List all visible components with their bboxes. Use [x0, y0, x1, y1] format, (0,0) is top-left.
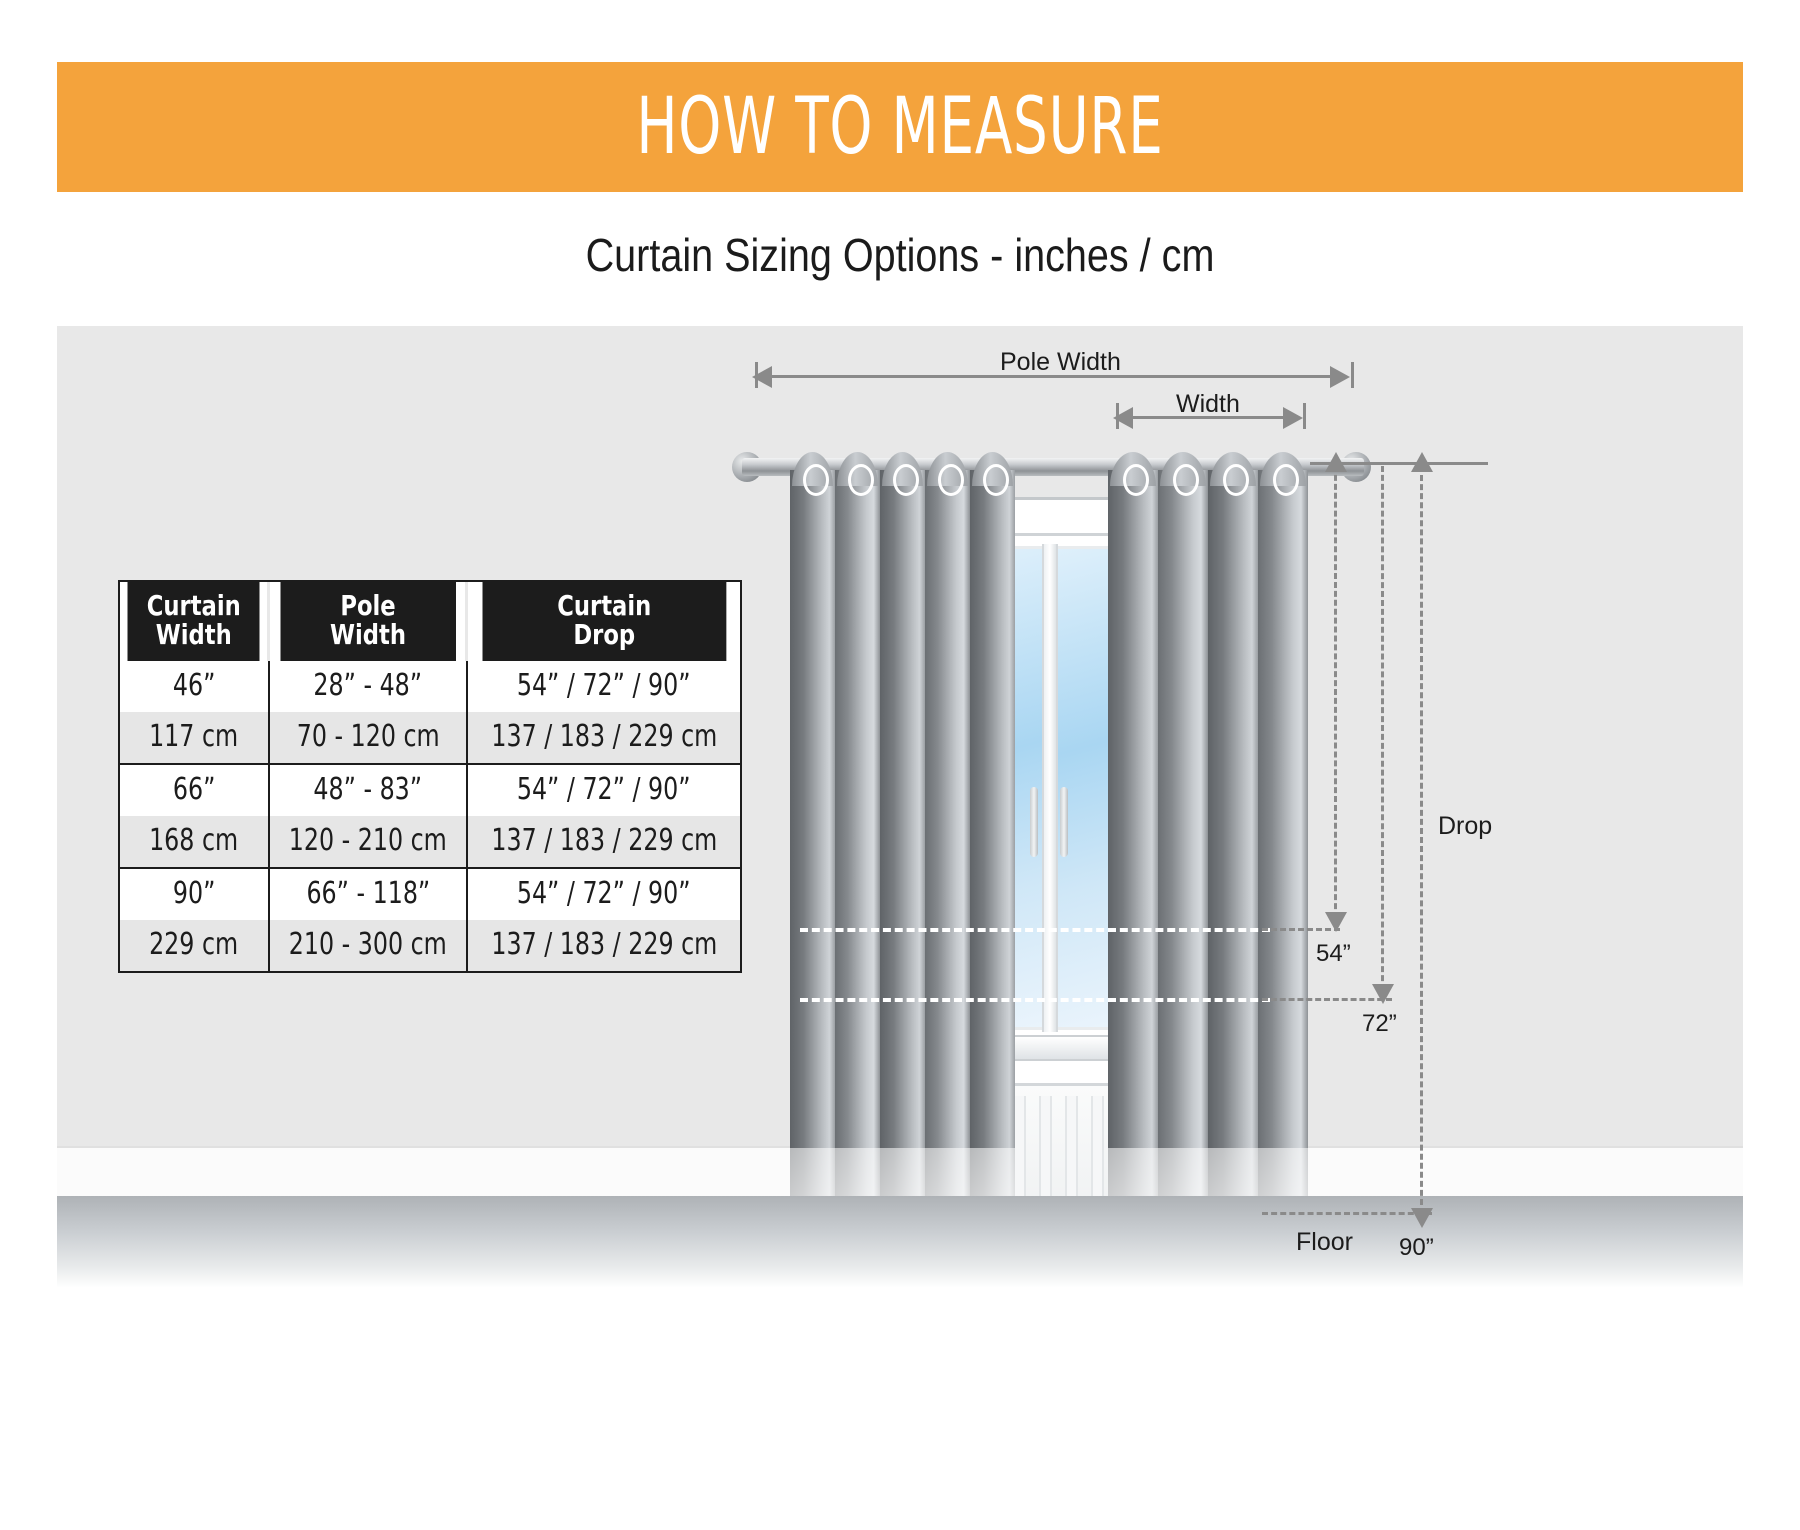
label-drop-72: 72” [1362, 1010, 1397, 1038]
cell-text: 46” [173, 668, 216, 703]
cell-curtain-drop: 54” / 72” / 90” [467, 764, 740, 816]
width-tick-left [1116, 403, 1119, 429]
curtain-eyelet-ring [1223, 464, 1249, 496]
curtain-pleat [880, 470, 925, 1252]
level-72-dash [1262, 998, 1392, 1001]
header-banner: HOW TO MEASURE [57, 62, 1743, 192]
pole-width-arrow-right [1330, 366, 1350, 388]
window-handle-right [1060, 787, 1068, 857]
label-drop-54: 54” [1316, 940, 1351, 968]
page-title: HOW TO MEASURE [636, 82, 1163, 172]
curtain-pleat [1258, 470, 1308, 1252]
header-line-2: Width [156, 618, 232, 651]
label-floor: Floor [1296, 1228, 1353, 1257]
width-arrow-right [1283, 407, 1303, 429]
curtain-pleat [1158, 470, 1208, 1252]
curtain-pleat [790, 470, 835, 1252]
cell-text: 90” [173, 876, 216, 911]
curtain-eyelet-ring [938, 464, 964, 496]
header-curtain-drop: Curtain Drop [481, 582, 727, 661]
level-54-dash-over-curtain [800, 928, 1270, 932]
curtain-eyelet-ring [893, 464, 919, 496]
curtain-pleat [1208, 470, 1258, 1252]
drop-54-arrow-top [1325, 452, 1347, 472]
curtain-panel-left [790, 452, 1015, 1252]
level-90-dash [1262, 1212, 1432, 1215]
cell-pole-width: 66” - 118” [269, 868, 467, 920]
cell-pole-width: 210 - 300 cm [269, 920, 467, 971]
pole-width-tick-right [1351, 362, 1354, 388]
cell-text: 66” [173, 772, 216, 807]
table-header-row: Curtain Width Pole Width Curtain Drop [120, 582, 740, 661]
cell-text: 54” / 72” / 90” [517, 668, 691, 703]
cell-text: 28” - 48” [314, 668, 423, 703]
cell-curtain-width: 229 cm [120, 920, 269, 971]
table-row: 168 cm 120 - 210 cm 137 / 183 / 229 cm [120, 816, 740, 868]
curtain-pleat [925, 470, 970, 1252]
pole-width-line [770, 375, 1340, 378]
curtain-eyelet-ring [1173, 464, 1199, 496]
window-mullion [1042, 544, 1058, 1032]
cell-curtain-drop: 137 / 183 / 229 cm [467, 712, 740, 764]
width-tick-right [1303, 403, 1306, 429]
curtain-pleat [835, 470, 880, 1252]
table-row: 90” 66” - 118” 54” / 72” / 90” [120, 868, 740, 920]
header-line-2: Drop [573, 618, 635, 651]
cell-pole-width: 120 - 210 cm [269, 816, 467, 868]
pole-width-tick-left [755, 362, 758, 388]
label-pole-width: Pole Width [1000, 348, 1121, 377]
drop-54-dashed-line [1334, 466, 1337, 918]
cell-curtain-width: 66” [120, 764, 269, 816]
curtain-pleats [1108, 470, 1308, 1252]
header-pole-width: Pole Width [279, 582, 457, 661]
table-row: 229 cm 210 - 300 cm 137 / 183 / 229 cm [120, 920, 740, 971]
width-line [1131, 416, 1293, 419]
cell-text: 70 - 120 cm [296, 719, 439, 754]
cell-text: 210 - 300 cm [289, 927, 447, 962]
label-drop: Drop [1438, 812, 1492, 841]
curtain-eyelet-ring [1273, 464, 1299, 496]
header-curtain-width: Curtain Width [127, 582, 261, 661]
cell-text: 54” / 72” / 90” [517, 876, 691, 911]
subtitle: Curtain Sizing Options - inches / cm [126, 228, 1674, 282]
cell-text: 168 cm [149, 823, 238, 858]
curtain-eyelet-ring [848, 464, 874, 496]
cell-curtain-drop: 54” / 72” / 90” [467, 868, 740, 920]
curtain-pleat [1108, 470, 1158, 1252]
cell-text: 66” - 118” [306, 876, 430, 911]
drop-72-arrow [1372, 984, 1394, 1004]
cell-text: 48” - 83” [314, 772, 423, 807]
cell-pole-width: 28” - 48” [269, 661, 467, 712]
drop-90-dashed-line [1420, 466, 1423, 1214]
cell-curtain-width: 168 cm [120, 816, 269, 868]
level-54-dash [1262, 928, 1340, 931]
floor-band [57, 1196, 1743, 1288]
cell-curtain-drop: 137 / 183 / 229 cm [467, 816, 740, 868]
cell-text: 54” / 72” / 90” [517, 772, 691, 807]
curtain-pleats [790, 470, 1015, 1252]
table-row: 66” 48” - 83” 54” / 72” / 90” [120, 764, 740, 816]
curtain-pleat [970, 470, 1015, 1252]
drop-90-arrow-top [1411, 452, 1433, 472]
cell-curtain-width: 117 cm [120, 712, 269, 764]
header-line-2: Width [330, 618, 406, 651]
drop-90-arrow [1411, 1208, 1433, 1228]
cell-pole-width: 70 - 120 cm [269, 712, 467, 764]
table-row: 46” 28” - 48” 54” / 72” / 90” [120, 661, 740, 712]
curtain-eyelet-ring [983, 464, 1009, 496]
sizing-table: Curtain Width Pole Width Curtain Drop 46… [120, 582, 740, 971]
level-72-dash-over-curtain [800, 998, 1270, 1002]
cell-text: 137 / 183 / 229 cm [491, 719, 717, 754]
cell-text: 120 - 210 cm [289, 823, 447, 858]
cell-text: 229 cm [149, 927, 238, 962]
cell-text: 117 cm [149, 719, 238, 754]
curtain-panel-right [1108, 452, 1308, 1252]
table-row: 117 cm 70 - 120 cm 137 / 183 / 229 cm [120, 712, 740, 764]
cell-curtain-width: 90” [120, 868, 269, 920]
drop-72-dashed-line [1381, 466, 1384, 990]
cell-pole-width: 48” - 83” [269, 764, 467, 816]
window-handle-left [1030, 787, 1038, 857]
curtain-eyelet-ring [803, 464, 829, 496]
cell-curtain-drop: 54” / 72” / 90” [467, 661, 740, 712]
cell-curtain-drop: 137 / 183 / 229 cm [467, 920, 740, 971]
label-width: Width [1176, 390, 1240, 419]
cell-curtain-width: 46” [120, 661, 269, 712]
curtain-eyelet-ring [1123, 464, 1149, 496]
cell-text: 137 / 183 / 229 cm [491, 927, 717, 962]
cell-text: 137 / 183 / 229 cm [491, 823, 717, 858]
label-drop-90: 90” [1399, 1234, 1434, 1262]
